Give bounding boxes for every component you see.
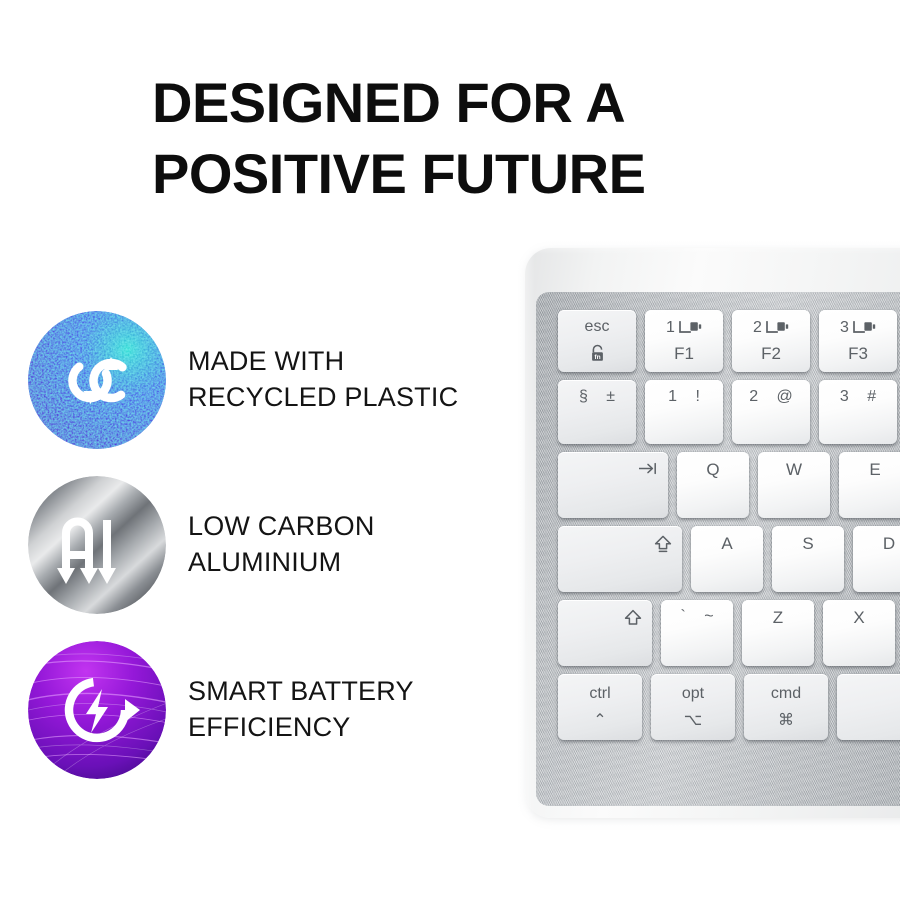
key-d[interactable]: D — [853, 526, 900, 592]
key-z-label: Z — [773, 609, 783, 626]
keyboard-row-home: A S D — [558, 526, 900, 592]
key-q[interactable]: Q — [677, 452, 749, 518]
key-f1-channel: 1 — [666, 320, 702, 336]
feature-item-low-carbon-aluminium: LOW CARBON ALUMINIUM — [28, 473, 518, 616]
key-tab[interactable] — [558, 452, 668, 518]
keyboard-row-shift: ` ~ Z X — [558, 600, 900, 666]
keyboard-row-tab: Q W E — [558, 452, 900, 518]
badge-low-carbon-aluminium — [28, 476, 166, 614]
key-cmd-label: cmd — [771, 686, 801, 702]
key-opt-label: opt — [682, 686, 704, 702]
key-1[interactable]: 1 ! — [645, 380, 723, 444]
key-w[interactable]: W — [758, 452, 830, 518]
key-opt[interactable]: opt ⌥ — [651, 674, 735, 740]
badge-smart-battery-efficiency — [28, 641, 166, 779]
shift-arrow-icon — [624, 609, 642, 626]
key-2[interactable]: 2 @ — [732, 380, 810, 444]
key-q-label: Q — [706, 461, 719, 478]
key-z[interactable]: Z — [742, 600, 814, 666]
key-shift[interactable] — [558, 600, 652, 666]
aluminium-down-arrows-icon — [28, 476, 166, 614]
key-esc[interactable]: esc fn — [558, 310, 636, 372]
key-w-label: W — [786, 461, 802, 478]
keyboard-row-modifier: ctrl ⌃ opt ⌥ cmd ⌘ — [558, 674, 900, 740]
shift-arrow-glyph — [624, 609, 642, 626]
key-e-label: E — [869, 461, 880, 478]
feature-label-low-carbon-aluminium: LOW CARBON ALUMINIUM — [188, 509, 375, 581]
battery-lightning-cycle-icon — [28, 641, 166, 779]
feature-item-recycled-plastic: MADE WITH RECYCLED PLASTIC — [28, 308, 518, 451]
caps-lock-glyph — [654, 535, 672, 554]
key-caps-lock[interactable] — [558, 526, 682, 592]
key-backtick-label: ` ~ — [673, 609, 720, 625]
keyboard-row-function: esc fn 1 — [558, 310, 900, 372]
option-symbol-icon: ⌥ — [684, 713, 702, 729]
page-title: DESIGNED FOR A POSITIVE FUTURE — [152, 68, 792, 209]
feature-label-line-2: EFFICIENCY — [188, 710, 414, 746]
key-f2-channel-number: 2 — [753, 320, 762, 336]
key-f3[interactable]: 3 F3 — [819, 310, 897, 372]
feature-label-line-2: ALUMINIUM — [188, 545, 375, 581]
caps-lock-icon — [654, 535, 672, 554]
badge-recycled-plastic — [28, 311, 166, 449]
key-f3-channel: 3 — [840, 320, 876, 336]
feature-label-line-2: RECYCLED PLASTIC — [188, 380, 458, 416]
headline-line-2: POSITIVE FUTURE — [152, 139, 792, 210]
feature-label-line-1: SMART BATTERY — [188, 674, 414, 710]
key-section-label: § ± — [572, 389, 622, 405]
key-x-label: X — [853, 609, 864, 626]
easy-switch-device-icon — [852, 321, 876, 336]
key-f3-label: F3 — [848, 345, 868, 362]
key-backtick[interactable]: ` ~ — [661, 600, 733, 666]
headline-line-1: DESIGNED FOR A — [152, 68, 792, 139]
product-feature-page: DESIGNED FOR A POSITIVE FUTURE — [0, 0, 900, 900]
key-e[interactable]: E — [839, 452, 900, 518]
key-s[interactable]: S — [772, 526, 844, 592]
feature-label-smart-battery-efficiency: SMART BATTERY EFFICIENCY — [188, 674, 414, 746]
feature-label-line-1: LOW CARBON — [188, 509, 375, 545]
key-a-label: A — [721, 535, 732, 552]
key-f1-label: F1 — [674, 345, 694, 362]
control-symbol-icon: ⌃ — [593, 713, 606, 729]
key-ctrl[interactable]: ctrl ⌃ — [558, 674, 642, 740]
key-f1-channel-number: 1 — [666, 320, 675, 336]
feature-label-recycled-plastic: MADE WITH RECYCLED PLASTIC — [188, 344, 458, 416]
key-space[interactable] — [837, 674, 900, 740]
key-cmd[interactable]: cmd ⌘ — [744, 674, 828, 740]
tab-arrow-icon — [638, 461, 658, 476]
key-f1[interactable]: 1 F1 — [645, 310, 723, 372]
key-2-label: 2 @ — [742, 389, 800, 405]
key-f2-label: F2 — [761, 345, 781, 362]
key-3-label: 3 # — [833, 389, 883, 405]
fn-lock-icon: fn — [589, 344, 606, 363]
key-f2[interactable]: 2 F2 — [732, 310, 810, 372]
sustainability-feature-list: MADE WITH RECYCLED PLASTIC — [28, 308, 518, 803]
fn-lock-glyph: fn — [589, 344, 606, 363]
recycle-loop-icon — [28, 311, 166, 449]
key-a[interactable]: A — [691, 526, 763, 592]
keyboard-key-plate: esc fn 1 — [536, 292, 900, 806]
key-f3-channel-number: 3 — [840, 320, 849, 336]
key-esc-label: esc — [585, 319, 610, 335]
key-f2-channel: 2 — [753, 320, 789, 336]
key-section[interactable]: § ± — [558, 380, 636, 444]
key-1-label: 1 ! — [661, 389, 707, 405]
key-3[interactable]: 3 # — [819, 380, 897, 444]
svg-text:fn: fn — [594, 354, 600, 361]
keyboard-product-photo: esc fn 1 — [525, 248, 900, 823]
feature-label-line-1: MADE WITH — [188, 344, 458, 380]
tab-arrow-glyph — [638, 461, 658, 476]
key-ctrl-label: ctrl — [589, 686, 610, 702]
keyboard-row-number: § ± 1 ! 2 @ 3 # — [558, 380, 900, 444]
key-x[interactable]: X — [823, 600, 895, 666]
key-s-label: S — [802, 535, 813, 552]
feature-item-smart-battery-efficiency: SMART BATTERY EFFICIENCY — [28, 638, 518, 781]
key-d-label: D — [883, 535, 895, 552]
command-symbol-icon: ⌘ — [778, 713, 794, 729]
easy-switch-device-icon — [678, 321, 702, 336]
easy-switch-device-icon — [765, 321, 789, 336]
